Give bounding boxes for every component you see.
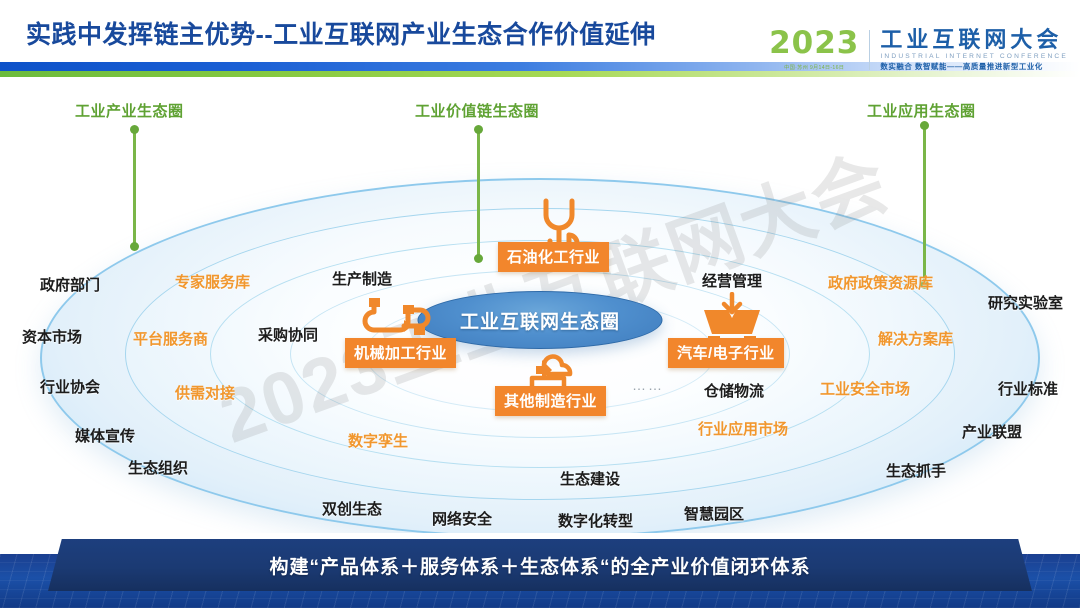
label-solution-library: 解决方案库 <box>878 328 953 349</box>
page-title: 实践中发挥链主优势--工业互联网产业生态合作价值延伸 <box>26 15 656 51</box>
logo-year-subtitle: 中国·苏州 9月14日-16日 <box>769 64 859 71</box>
callout-label-1: 工业产业生态圈 <box>75 100 184 121</box>
slide-header: 实践中发挥链主优势--工业互联网产业生态合作价值延伸 2023 中国·苏州 9月… <box>0 0 1080 90</box>
label-procurement-coordination: 采购协同 <box>258 324 318 345</box>
label-innovation-ecosystem: 双创生态 <box>322 498 382 519</box>
tag-automotive-electronics-industry[interactable]: 汽车/电子行业 <box>668 338 784 368</box>
callout-dot-top-3 <box>920 121 929 130</box>
callout-line-2 <box>477 128 480 258</box>
label-platform-service-provider: 平台服务商 <box>133 328 208 349</box>
label-gov-policy-resource-library: 政府政策资源库 <box>828 272 933 293</box>
label-supply-demand-matching: 供需对接 <box>175 382 235 403</box>
callout-dot-bottom-2 <box>474 254 483 263</box>
callout-label-3: 工业应用生态圈 <box>867 100 976 121</box>
label-business-management: 经营管理 <box>702 270 762 291</box>
callout-line-1 <box>133 128 136 246</box>
callout-dot-top-2 <box>474 125 483 134</box>
label-industry-association: 行业协会 <box>40 376 100 397</box>
logo-divider <box>869 30 870 70</box>
ecosystem-diagram: 2023工业互联网大会 工业互联网生态圈 工业产业生态圈 工业价值链生态圈 工业… <box>0 90 1080 560</box>
callout-dot-top-1 <box>130 125 139 134</box>
label-ellipsis: …… <box>632 377 664 393</box>
label-industrial-safety-market: 工业安全市场 <box>820 378 910 399</box>
label-media-promotion: 媒体宣传 <box>75 425 135 446</box>
callout-line-3 <box>923 124 926 284</box>
label-smart-park: 智慧园区 <box>684 503 744 524</box>
logo-year: 2023 <box>769 28 859 59</box>
label-industry-alliance: 产业联盟 <box>962 421 1022 442</box>
label-expert-service-library: 专家服务库 <box>175 271 250 292</box>
core-ecosystem-label: 工业互联网生态圈 <box>460 307 620 334</box>
tag-petrochemical-industry[interactable]: 石油化工行业 <box>498 242 609 272</box>
label-warehouse-logistics: 仓储物流 <box>704 380 764 401</box>
label-industry-standard: 行业标准 <box>998 378 1058 399</box>
bottom-banner-text: 构建“产品体系＋服务体系＋生态体系“的全产业价值闭环体系 <box>269 552 810 579</box>
logo-year-block: 2023 中国·苏州 9月14日-16日 <box>769 28 859 71</box>
label-research-laboratory: 研究实验室 <box>988 292 1063 313</box>
label-digital-transformation: 数字化转型 <box>558 510 633 531</box>
callout-dot-bottom-1 <box>130 242 139 251</box>
tag-other-manufacturing-industry[interactable]: 其他制造行业 <box>495 386 606 416</box>
label-network-security: 网络安全 <box>432 508 492 529</box>
slide-root: 实践中发挥链主优势--工业互联网产业生态合作价值延伸 2023 中国·苏州 9月… <box>0 0 1080 608</box>
logo-english-name: INDUSTRIAL INTERNET CONFERENCE <box>880 54 1068 61</box>
label-digital-twin: 数字孪生 <box>348 430 408 451</box>
bottom-banner-plate: 构建“产品体系＋服务体系＋生态体系“的全产业价值闭环体系 <box>48 539 1032 591</box>
label-industry-application-market: 行业应用市场 <box>698 418 788 439</box>
label-ecological-grip: 生态抓手 <box>886 460 946 481</box>
label-government-department: 政府部门 <box>40 274 100 295</box>
logo-chinese-name: 工业互联网大会 <box>880 29 1068 51</box>
bottom-banner-zone: 构建“产品体系＋服务体系＋生态体系“的全产业价值闭环体系 <box>0 533 1080 608</box>
label-ecological-construction: 生态建设 <box>560 468 620 489</box>
label-capital-market: 资本市场 <box>22 326 82 347</box>
label-ecological-organization: 生态组织 <box>128 457 188 478</box>
logo-slogan: 数实融合 数智赋能——高质量推进新型工业化 <box>880 63 1068 70</box>
callout-label-2: 工业价值链生态圈 <box>415 100 539 121</box>
tag-machining-industry[interactable]: 机械加工行业 <box>345 338 456 368</box>
logo-text-block: 工业互联网大会 INDUSTRIAL INTERNET CONFERENCE 数… <box>880 29 1068 71</box>
label-production-manufacturing: 生产制造 <box>332 268 392 289</box>
header-rule-green <box>0 71 1080 77</box>
conference-logo: 2023 中国·苏州 9月14日-16日 工业互联网大会 INDUSTRIAL … <box>769 28 1068 71</box>
